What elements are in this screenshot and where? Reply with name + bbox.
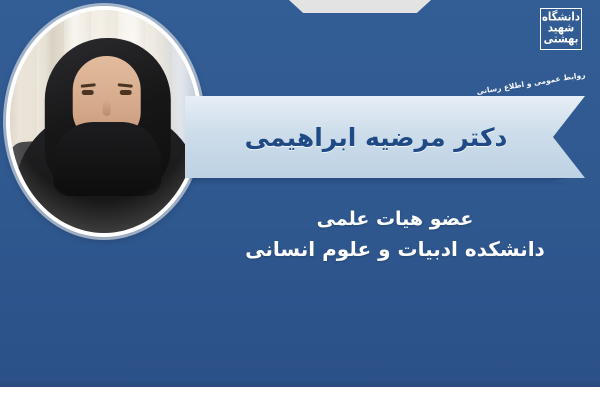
top-center-notch bbox=[289, 0, 431, 13]
person-name: دکتر مرضیه ابراهیمی bbox=[245, 123, 526, 152]
hijab-front-shape bbox=[53, 122, 161, 196]
subtitle-line-faculty: دانشکده ادبیات و علوم انسانی bbox=[200, 234, 590, 265]
subtitle-block: عضو هیات علمی دانشکده ادبیات و علوم انسا… bbox=[200, 205, 590, 265]
nose-shape bbox=[103, 100, 111, 116]
portrait-container bbox=[6, 6, 202, 237]
faculty-profile-card: دکتر مرضیه ابراهیمی عضو هیات علمی دانشکد… bbox=[0, 0, 600, 400]
university-logo: دانشگاه شهید بهشتی روابط عمومی و اطلاع ر… bbox=[510, 6, 588, 80]
name-ribbon: دکتر مرضیه ابراهیمی bbox=[185, 96, 585, 178]
portrait-ring bbox=[6, 6, 202, 237]
bottom-white-strip bbox=[0, 387, 600, 400]
eyebrow-left bbox=[81, 83, 96, 88]
portrait-photo bbox=[10, 10, 198, 233]
logo-line-3: بهشتی bbox=[544, 34, 579, 46]
subtitle-line-role: عضو هیات علمی bbox=[200, 205, 590, 234]
university-logo-icon: دانشگاه شهید بهشتی bbox=[540, 8, 582, 50]
eyebrow-right bbox=[118, 83, 133, 88]
